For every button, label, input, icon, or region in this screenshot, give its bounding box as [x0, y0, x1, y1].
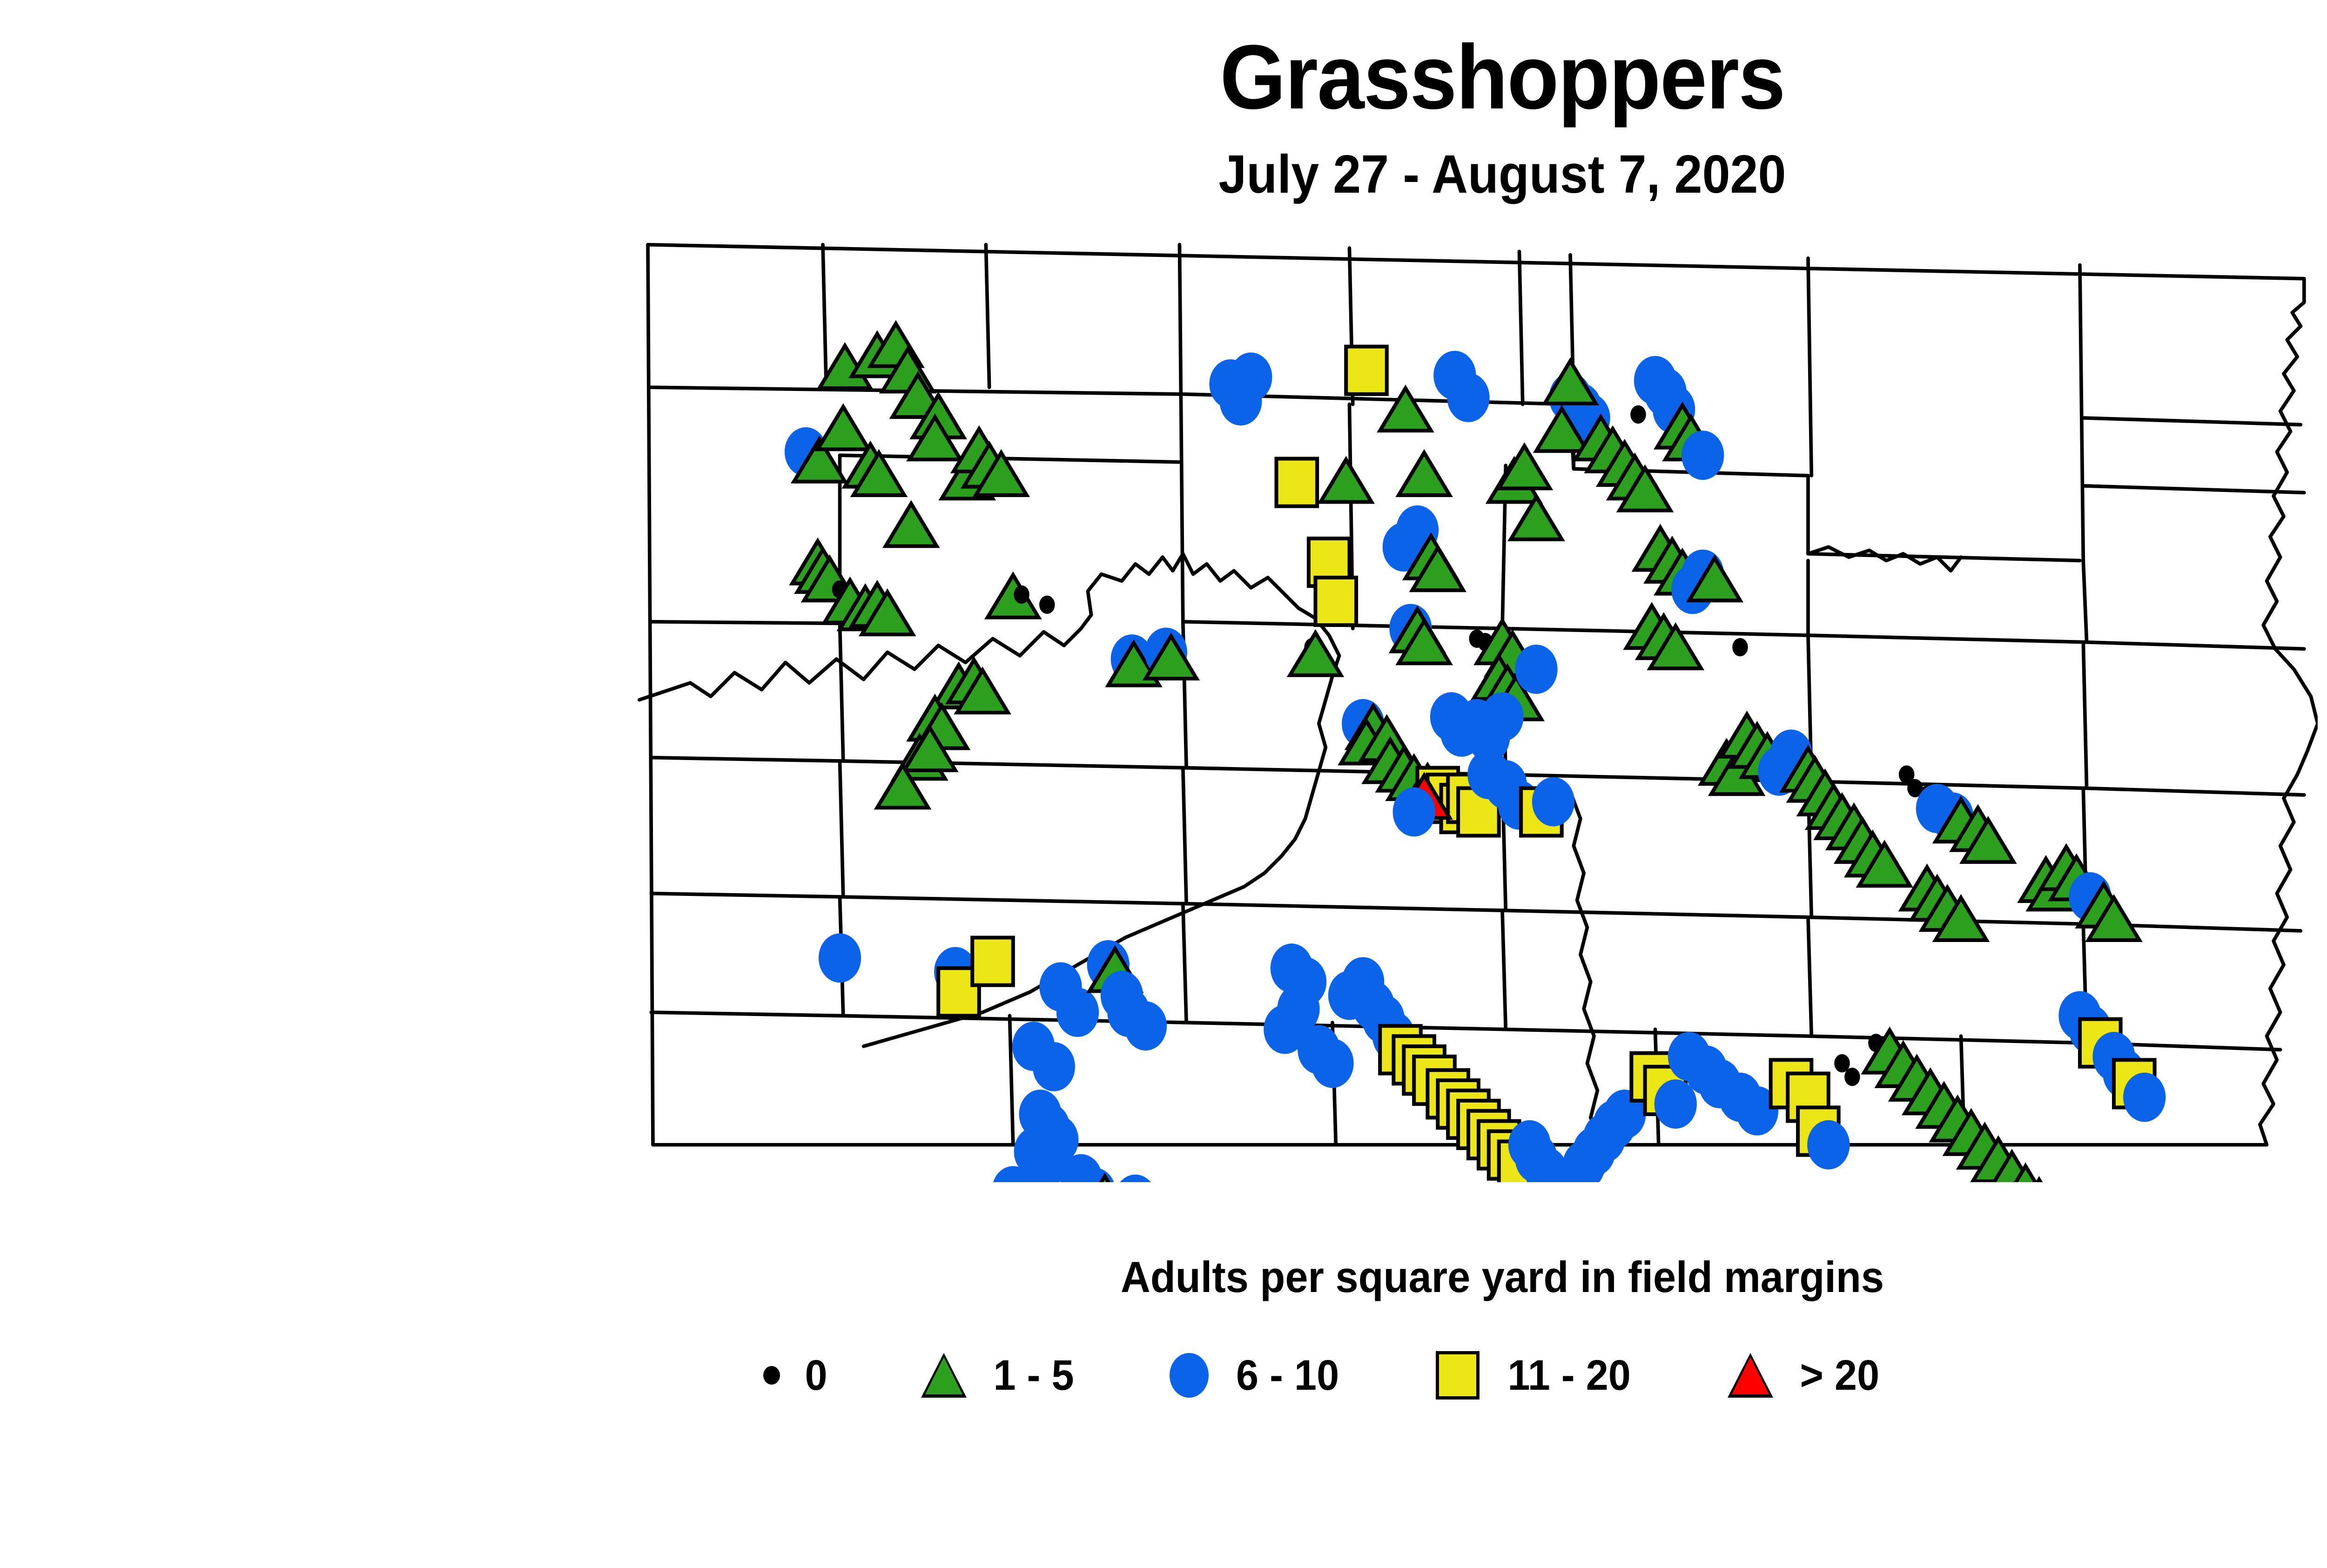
marker-1-5 [1290, 633, 1341, 675]
north-dakota-map[interactable] [619, 214, 2318, 1182]
legend-item-2[interactable]: 6 - 10 [1170, 1351, 1342, 1400]
marker-zero [1014, 585, 1029, 604]
marker-6-10 [1654, 1079, 1697, 1129]
page-subtitle: July 27 - August 7, 2020 [105, 147, 2327, 201]
marker-6-10 [1124, 1001, 1167, 1050]
legend-item-0[interactable]: 0 [763, 1351, 828, 1400]
legend-item-4[interactable]: > 20 [1728, 1351, 1882, 1400]
marker-1-5 [818, 407, 869, 449]
marker-1-5 [1399, 453, 1450, 495]
zero-dot-icon [763, 1366, 780, 1385]
marker-zero [1732, 638, 1748, 656]
marker-zero [1844, 1068, 1860, 1086]
marker-6-10 [1447, 373, 1489, 422]
map-svg [619, 214, 2318, 1182]
data-markers [785, 323, 2166, 1182]
marker-6-10 [1393, 787, 1435, 837]
marker-11-20 [1346, 347, 1387, 394]
legend-label-0: 0 [805, 1351, 827, 1400]
legend-label-3: 11 - 20 [1507, 1351, 1630, 1400]
legend-label-1: 1 - 5 [994, 1351, 1074, 1400]
marker-zero [1039, 596, 1055, 614]
marker-6-10 [1114, 1175, 1157, 1182]
marker-11-20 [1277, 458, 1318, 506]
marker-6-10 [1056, 988, 1099, 1037]
marker-6-10 [1532, 777, 1574, 827]
marker-6-10 [2123, 1073, 2166, 1122]
yellow-square-icon [1436, 1351, 1480, 1400]
blue-circle-icon [1170, 1353, 1209, 1398]
map-page: Grasshoppers July 27 - August 7, 2020 [0, 0, 2327, 1568]
marker-6-10 [1807, 1120, 1849, 1170]
legend-title: Adults per square yard in field margins [90, 1252, 2327, 1302]
legend-label-4: > 20 [1800, 1351, 1879, 1400]
marker-1-5 [1545, 361, 1596, 404]
legend: 0 1 - 5 6 - 10 11 - 20 > 20 [763, 1322, 2327, 1429]
marker-6-10 [1481, 692, 1523, 741]
green-triangle-icon [921, 1353, 967, 1398]
marker-6-10 [1515, 645, 1557, 694]
marker-6-10 [1033, 1042, 1075, 1091]
legend-item-1[interactable]: 1 - 5 [921, 1351, 1076, 1400]
red-triangle-icon [1728, 1353, 1773, 1398]
legend-label-2: 6 - 10 [1236, 1351, 1339, 1400]
page-title: Grasshoppers [105, 32, 2327, 123]
marker-11-20 [972, 938, 1013, 985]
marker-1-5 [1320, 459, 1372, 502]
title-block: Grasshoppers July 27 - August 7, 2020 [0, 0, 2327, 201]
marker-11-20 [1316, 578, 1357, 625]
marker-zero [1630, 405, 1646, 424]
marker-6-10 [1311, 1039, 1353, 1088]
marker-6-10 [1219, 376, 1262, 425]
marker-1-5 [988, 575, 1039, 617]
marker-6-10 [819, 933, 861, 983]
legend-item-3[interactable]: 11 - 20 [1436, 1351, 1634, 1400]
marker-6-10 [1681, 431, 1724, 480]
marker-1-5 [886, 504, 937, 546]
